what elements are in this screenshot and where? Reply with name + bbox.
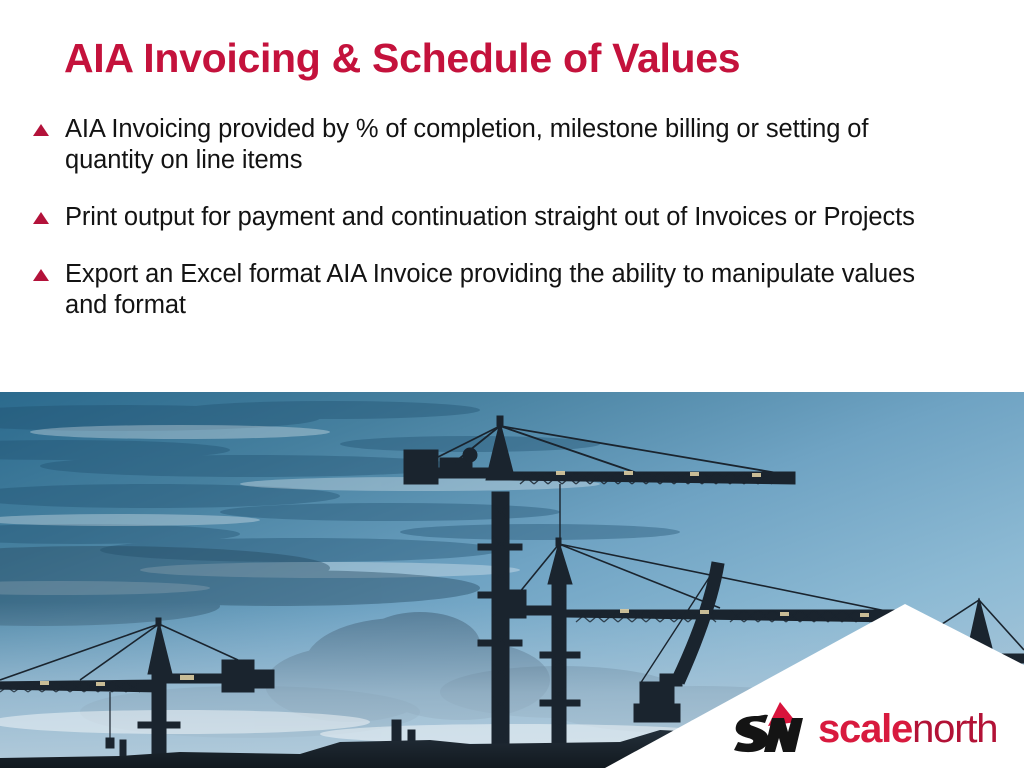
list-item: AIA Invoicing provided by % of completio… <box>30 114 930 176</box>
bullet-list: AIA Invoicing provided by % of completio… <box>30 114 930 347</box>
scalenorth-wordmark: scalenorth <box>818 709 997 749</box>
list-item-text: Export an Excel format AIA Invoice provi… <box>65 259 920 321</box>
list-item: Print output for payment and continuatio… <box>30 202 930 233</box>
list-item-text: AIA Invoicing provided by % of completio… <box>65 114 920 176</box>
page-title: AIA Invoicing & Schedule of Values <box>64 36 964 82</box>
list-item: Export an Excel format AIA Invoice provi… <box>30 259 930 321</box>
presentation-slide: AIA Invoicing & Schedule of Values AIA I… <box>0 0 1024 768</box>
triangle-up-icon <box>33 124 49 136</box>
wordmark-north: north <box>912 707 997 751</box>
wordmark-scale: scale <box>818 707 912 751</box>
scalenorth-sn-monogram-icon <box>726 698 808 754</box>
scalenorth-logo: scalenorth <box>726 698 997 754</box>
triangle-up-icon <box>33 212 49 224</box>
list-item-text: Print output for payment and continuatio… <box>65 202 920 233</box>
triangle-up-icon <box>33 269 49 281</box>
